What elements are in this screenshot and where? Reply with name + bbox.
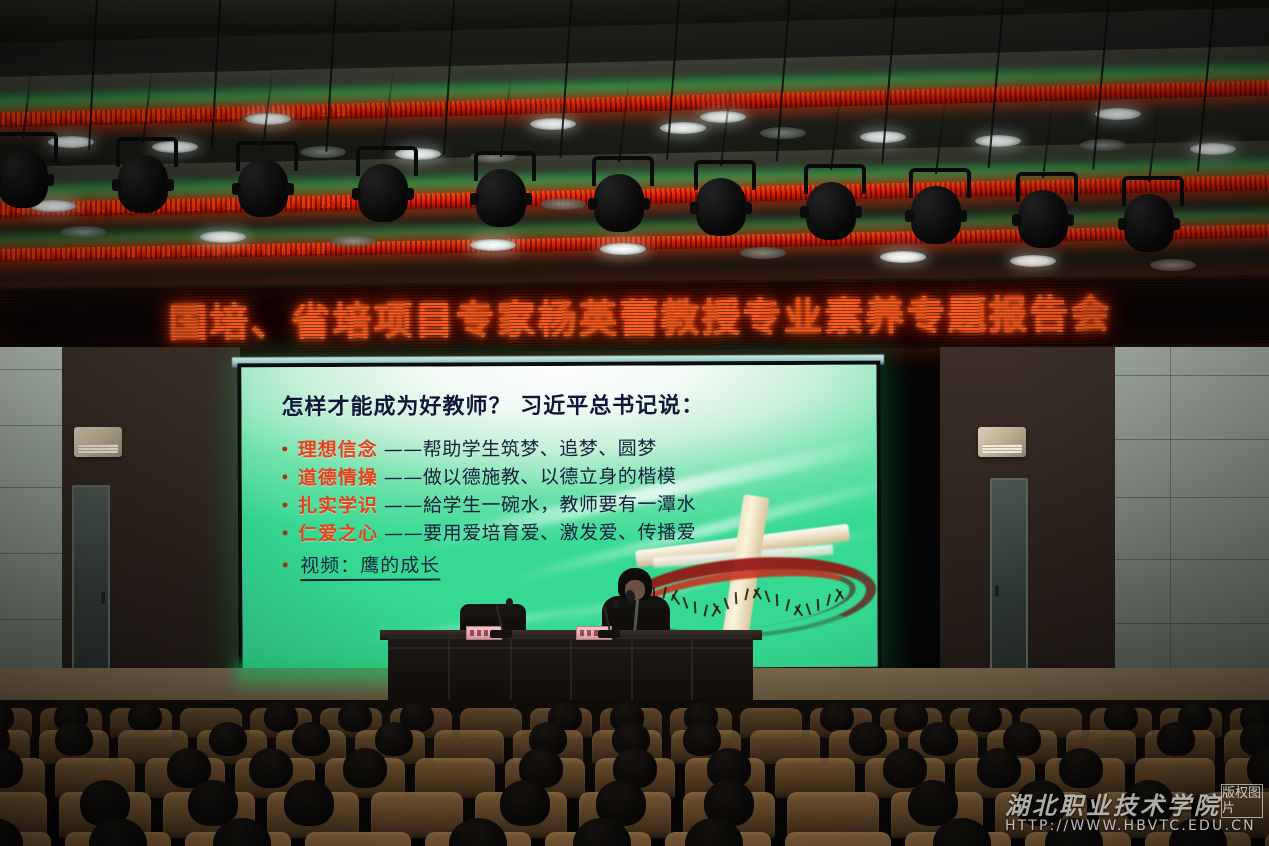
par-stage-light-icon (352, 146, 414, 224)
audience-member (375, 722, 413, 756)
led-banner: 国培、省培项目专家杨英蕾教授专业素养专题报告会 (0, 275, 1269, 357)
ceiling-lamp-icon (1095, 108, 1141, 120)
right-door[interactable] (990, 478, 1028, 697)
audience-member (920, 722, 958, 756)
audience-member (894, 702, 928, 732)
audience-member (284, 780, 334, 826)
slide-title: 怎样才能成为好教师？ 习近平总书记说： (281, 387, 704, 421)
wall-speaker-icon (978, 427, 1026, 457)
audience-member (1104, 702, 1138, 732)
ceiling-lamp-icon (1150, 259, 1196, 271)
watermark-url: HTTP://WWW.HBVTC.EDU.CN (1005, 818, 1256, 834)
ceiling-lamp-icon (330, 235, 376, 247)
ceiling: 国培、省培项目专家杨英蕾教授专业素养专题报告会 国培、省培项目专家杨英蕾教授专业… (0, 0, 1269, 292)
par-stage-light-icon (800, 164, 862, 242)
ceiling-lamp-icon (1010, 255, 1056, 267)
par-stage-light-icon (905, 168, 967, 246)
watermark-copyright-badge: 版权图片 (1221, 784, 1263, 818)
ceiling-lamp-icon (1080, 139, 1126, 151)
ceiling-lamp-icon (975, 135, 1021, 147)
slide-bullet-row: •道德情操——做以德施教、以德立身的楷模 (278, 463, 858, 492)
audience-member (264, 702, 298, 732)
audience-member (820, 702, 854, 732)
bullet-dot-icon: • (278, 521, 292, 547)
par-stage-light-icon (588, 156, 650, 234)
ceiling-lamp-icon (740, 247, 786, 259)
video-item-label: 视频：鹰的成长 (300, 551, 440, 582)
watermark-institution: 湖北职业技术学院 (1005, 786, 1221, 821)
bullet-dot-icon: • (278, 437, 292, 463)
bullet-dot-icon: • (278, 553, 292, 579)
bullet-keyword: 道德情操 (298, 465, 378, 491)
audience-member (249, 748, 293, 788)
audience-member (1059, 748, 1103, 788)
ceiling-lamp-icon (760, 127, 806, 139)
par-stage-light-icon (470, 151, 532, 229)
audience-member (977, 748, 1021, 788)
projection-screen: 怎样才能成为好教师？ 习近平总书记说： •理想信念——帮助学生筑梦、追梦、圆梦•… (237, 361, 881, 674)
ceiling-lamp-icon (470, 239, 516, 251)
audience-member (500, 780, 550, 826)
audience-member (292, 722, 330, 756)
par-stage-light-icon (112, 137, 174, 215)
bullet-description: ——帮助学生筑梦、追梦、圆梦 (384, 436, 657, 463)
ceiling-lamp-icon (700, 111, 746, 123)
ceiling-lamp-icon (1190, 143, 1236, 155)
ceiling-lamp-icon (530, 118, 576, 130)
ceiling-lamp-icon (60, 226, 106, 238)
auditorium-photo: 国培、省培项目专家杨英蕾教授专业素养专题报告会 国培、省培项目专家杨英蕾教授专业… (0, 0, 1269, 846)
ceiling-lamp-icon (245, 113, 291, 125)
par-stage-light-icon (232, 141, 294, 219)
audience-member (849, 722, 887, 756)
bullet-keyword: 理想信念 (298, 437, 378, 463)
par-stage-light-icon (690, 160, 752, 238)
par-stage-light-icon (1118, 176, 1180, 254)
led-banner-text: 国培、省培项目专家杨英蕾教授专业素养专题报告会 (168, 283, 1112, 348)
ceiling-lamp-icon (300, 146, 346, 158)
par-stage-light-icon (1012, 172, 1074, 250)
bullet-keyword: 扎实学识 (298, 493, 378, 519)
audience-member (209, 722, 247, 756)
ceiling-lamp-icon (660, 122, 706, 134)
ceiling-lamp-icon (880, 251, 926, 263)
bullet-dot-icon: • (278, 493, 292, 519)
audience-seat (305, 832, 411, 846)
bullet-keyword: 仁爱之心 (298, 521, 378, 547)
par-stage-light-icon (0, 132, 54, 210)
slide-content: 怎样才能成为好教师？ 习近平总书记说： •理想信念——帮助学生筑梦、追梦、圆梦•… (241, 365, 877, 670)
audience-seat (785, 832, 891, 846)
audience-member (1157, 722, 1195, 756)
audience-member (55, 722, 93, 756)
audience-member (128, 702, 162, 732)
watermark: 湖北职业技术学院 版权图片 HTTP://WWW.HBVTC.EDU.CN (1005, 786, 1263, 840)
bullet-description: ——做以德施教、以德立身的楷模 (384, 463, 677, 490)
audience-member (968, 702, 1002, 732)
ceiling-beam (0, 0, 1269, 44)
ceiling-lamp-icon (540, 198, 586, 210)
audience-member (338, 702, 372, 732)
ceiling-lamp-icon (600, 243, 646, 255)
slide-video-item: • 视频：鹰的成长 (278, 551, 440, 582)
slide-bullet-row: •理想信念——帮助学生筑梦、追梦、圆梦 (278, 435, 858, 464)
ceiling-lamp-icon (200, 231, 246, 243)
audience-member (343, 748, 387, 788)
wall-speaker-icon (74, 427, 122, 457)
bullet-dot-icon: • (278, 465, 292, 491)
